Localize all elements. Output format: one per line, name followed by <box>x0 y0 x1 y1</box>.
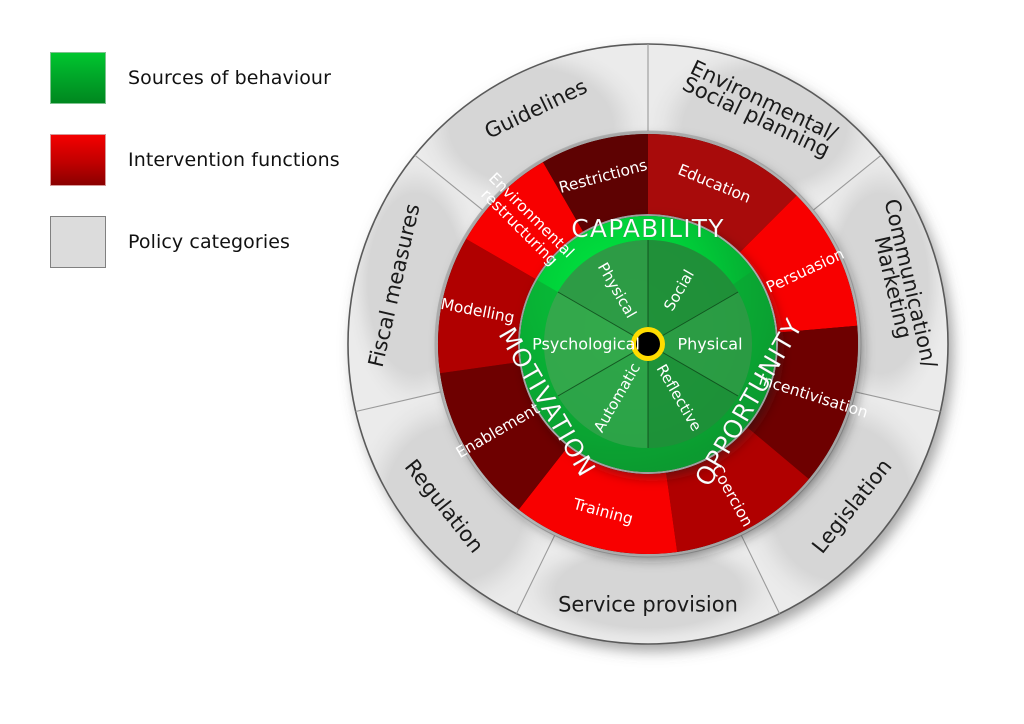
legend-item-sources: Sources of behaviour <box>50 52 340 104</box>
behaviour-change-wheel: Environmental/Social planningCommunicati… <box>338 28 978 668</box>
source-label-opportunity-physical: Physical <box>677 335 742 354</box>
diagram-canvas: Sources of behaviour Intervention functi… <box>0 0 1024 724</box>
legend-swatch-gray <box>50 216 106 268</box>
policy-label-service-provision: Service provision <box>558 593 738 617</box>
legend-swatch-green <box>50 52 106 104</box>
legend: Sources of behaviour Intervention functi… <box>50 52 340 268</box>
svg-text:CAPABILITY: CAPABILITY <box>571 214 725 243</box>
legend-swatch-red <box>50 134 106 186</box>
legend-item-policy: Policy categories <box>50 216 340 268</box>
source-label-capability-psychological: Psychological <box>532 335 640 354</box>
comb-label-capability: CAPABILITY <box>571 214 725 243</box>
legend-item-interventions: Intervention functions <box>50 134 340 186</box>
wheel-svg: Environmental/Social planningCommunicati… <box>338 28 978 668</box>
svg-text:Service provision: Service provision <box>558 593 738 617</box>
legend-label-sources: Sources of behaviour <box>128 67 331 89</box>
legend-label-policy: Policy categories <box>128 231 290 253</box>
legend-label-interventions: Intervention functions <box>128 149 340 171</box>
